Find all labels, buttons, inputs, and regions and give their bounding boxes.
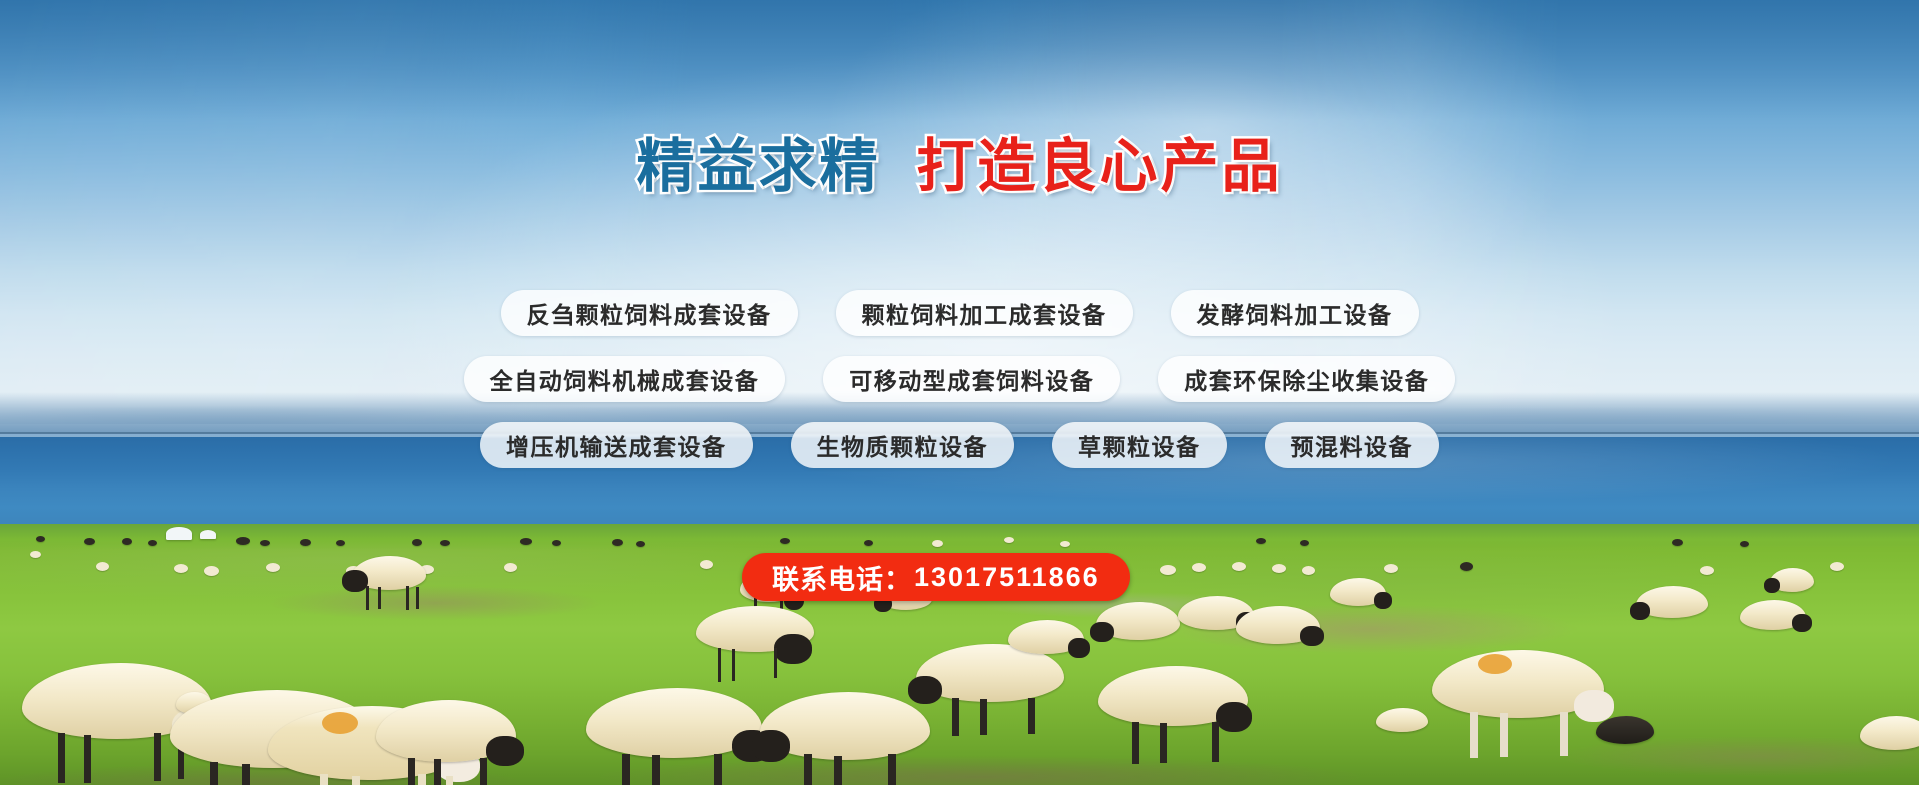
sheep-far bbox=[1060, 541, 1070, 547]
sheep-far bbox=[148, 540, 157, 546]
sheep-mid bbox=[1460, 562, 1473, 571]
product-pill-row-2: 全自动饲料机械成套设备 可移动型成套饲料设备 成套环保除尘收集设备 bbox=[0, 356, 1919, 402]
headline-red-text: 打造良心产品 bbox=[917, 138, 1283, 196]
sheep bbox=[586, 688, 762, 758]
sheep-orange-mark bbox=[322, 712, 358, 734]
sheep-far bbox=[780, 538, 790, 544]
product-pill-row-1: 反刍颗粒饲料成套设备 颗粒饲料加工成套设备 发酵饲料加工设备 bbox=[0, 290, 1919, 336]
grass-shore-band bbox=[0, 524, 1919, 550]
sheep-mid bbox=[1232, 562, 1246, 571]
product-pill-biomass-pellet-equipment[interactable]: 生物质颗粒设备 bbox=[791, 422, 1015, 468]
sheep-far bbox=[84, 538, 95, 545]
sheep-far bbox=[122, 538, 132, 545]
sheep-far bbox=[1256, 538, 1266, 544]
sheep-mid bbox=[1830, 562, 1844, 571]
sheep-far bbox=[440, 540, 450, 546]
sheep-far bbox=[1740, 541, 1749, 547]
sheep-far bbox=[636, 541, 645, 547]
sheep-mid bbox=[204, 566, 219, 576]
sheep-far bbox=[1672, 539, 1683, 546]
sheep-mid bbox=[96, 562, 109, 571]
headline-blue-text: 精益求精 bbox=[636, 138, 880, 196]
sheep-far bbox=[932, 540, 943, 547]
yurt-tent bbox=[200, 530, 216, 539]
sheep-far bbox=[412, 539, 422, 546]
sheep-mid bbox=[266, 563, 280, 572]
sheep-far bbox=[36, 536, 45, 542]
sheep-mid bbox=[1192, 563, 1206, 572]
product-pill-ruminant-pellet-feed[interactable]: 反刍颗粒饲料成套设备 bbox=[501, 290, 798, 336]
sheep bbox=[1096, 602, 1180, 640]
sheep-far bbox=[300, 539, 311, 546]
sheep bbox=[1596, 716, 1654, 744]
sheep bbox=[1236, 606, 1320, 644]
product-pill-group: 反刍颗粒饲料成套设备 颗粒饲料加工成套设备 发酵饲料加工设备 全自动饲料机械成套… bbox=[0, 290, 1919, 488]
product-pill-automatic-feed-machinery[interactable]: 全自动饲料机械成套设备 bbox=[464, 356, 786, 402]
contact-phone-label: 联系电话： bbox=[772, 558, 912, 597]
sheep-far bbox=[336, 540, 345, 546]
product-pill-mobile-feed-equipment[interactable]: 可移动型成套饲料设备 bbox=[823, 356, 1120, 402]
sheep bbox=[1432, 650, 1604, 718]
sheep-far bbox=[612, 539, 623, 546]
sheep bbox=[376, 700, 516, 762]
product-pill-pellet-feed-processing[interactable]: 颗粒饲料加工成套设备 bbox=[836, 290, 1133, 336]
product-pill-premix-equipment[interactable]: 预混料设备 bbox=[1265, 422, 1440, 468]
sheep-mid bbox=[1700, 566, 1714, 575]
sheep bbox=[1098, 666, 1248, 726]
sheep bbox=[1740, 600, 1806, 630]
sheep-far bbox=[552, 540, 561, 546]
sheep-far bbox=[864, 540, 873, 546]
sheep-mid bbox=[1302, 566, 1315, 575]
sheep-orange-mark bbox=[1478, 654, 1512, 674]
sheep-far bbox=[236, 537, 250, 545]
sheep bbox=[1008, 620, 1084, 654]
sheep bbox=[1376, 708, 1428, 732]
sheep-far bbox=[1300, 540, 1309, 546]
sheep-mid bbox=[174, 564, 188, 573]
sheep-far bbox=[30, 551, 41, 558]
product-pill-fermented-feed-processing[interactable]: 发酵饲料加工设备 bbox=[1171, 290, 1419, 336]
sheep-far bbox=[260, 540, 270, 546]
contact-phone-badge[interactable]: 联系电话： 13017511866 bbox=[742, 553, 1130, 601]
product-pill-row-3: 增压机输送成套设备 生物质颗粒设备 草颗粒设备 预混料设备 bbox=[0, 422, 1919, 468]
product-pill-booster-conveying-equipment[interactable]: 增压机输送成套设备 bbox=[480, 422, 753, 468]
headline-slogan: 精益求精打造良心产品 bbox=[0, 138, 1919, 196]
sheep-mid bbox=[504, 563, 517, 572]
sheep bbox=[1636, 586, 1708, 618]
sheep-far bbox=[1004, 537, 1014, 543]
yurt-tent bbox=[166, 527, 192, 540]
sheep bbox=[1770, 568, 1814, 592]
sheep bbox=[1860, 716, 1919, 750]
promo-banner: 精益求精打造良心产品 反刍颗粒饲料成套设备 颗粒饲料加工成套设备 发酵饲料加工设… bbox=[0, 0, 1919, 785]
contact-phone-number: 13017511866 bbox=[914, 562, 1100, 593]
sheep-far bbox=[520, 538, 532, 545]
sheep bbox=[696, 606, 814, 652]
sheep bbox=[760, 692, 930, 760]
sheep-mid bbox=[700, 560, 713, 569]
product-pill-grass-pellet-equipment[interactable]: 草颗粒设备 bbox=[1052, 422, 1227, 468]
sheep bbox=[352, 556, 426, 590]
sheep-mid bbox=[1160, 565, 1176, 575]
sheep-mid bbox=[1384, 564, 1398, 573]
sheep-mid bbox=[1272, 564, 1286, 573]
product-pill-dust-collection-equipment[interactable]: 成套环保除尘收集设备 bbox=[1158, 356, 1455, 402]
sheep bbox=[1330, 578, 1386, 606]
